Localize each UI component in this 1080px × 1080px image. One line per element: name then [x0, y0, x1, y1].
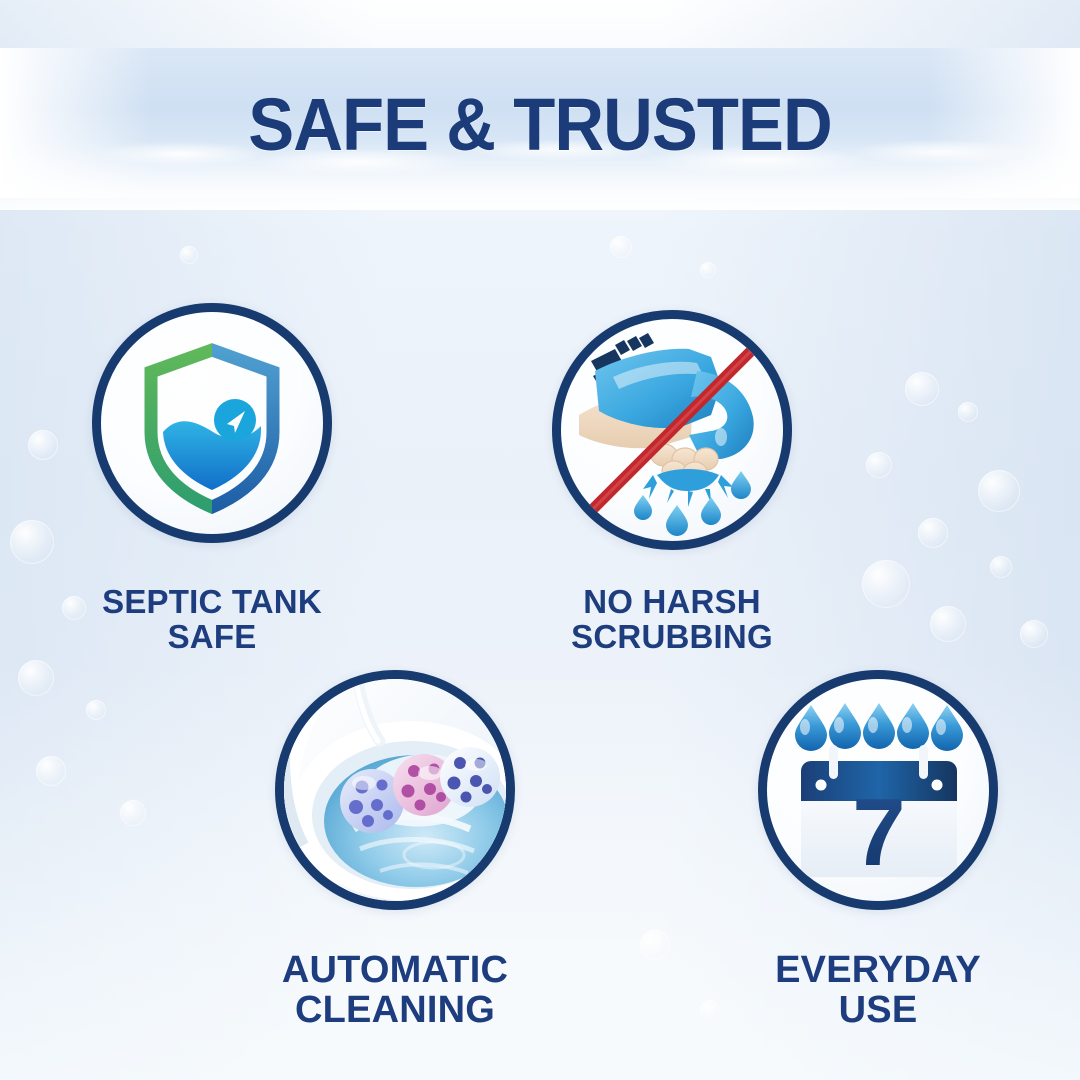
label-line-1: EVERYDAY	[718, 950, 1038, 990]
toilet-bowl-gel-discs-icon	[284, 679, 506, 901]
label-line-2: SCRUBBING	[512, 620, 832, 655]
feature-badge-automatic-cleaning[interactable]	[275, 670, 515, 910]
badge-inner	[101, 312, 323, 534]
feature-label-automatic-cleaning: AUTOMATIC CLEANING	[235, 950, 555, 1031]
badge-inner	[284, 679, 506, 901]
label-line-1: AUTOMATIC	[235, 950, 555, 990]
calendar-7-droplets-icon: 7	[767, 679, 989, 901]
label-line-2: SAFE	[52, 620, 372, 655]
label-line-1: SEPTIC TANK	[52, 585, 372, 620]
shield-water-icon	[101, 312, 323, 534]
hand-brush-prohibited-icon	[561, 319, 783, 541]
calendar-day-number: 7	[852, 779, 905, 886]
feature-badge-septic-tank-safe[interactable]	[92, 303, 332, 543]
label-line-2: USE	[718, 990, 1038, 1030]
feature-label-septic-tank-safe: SEPTIC TANK SAFE	[52, 585, 372, 655]
feature-badge-no-harsh-scrubbing[interactable]	[552, 310, 792, 550]
infographic-canvas: SAFE & TRUSTED	[0, 0, 1080, 1080]
feature-label-everyday-use: EVERYDAY USE	[718, 950, 1038, 1031]
label-line-2: CLEANING	[235, 990, 555, 1030]
label-line-1: NO HARSH	[512, 585, 832, 620]
feature-label-no-harsh-scrubbing: NO HARSH SCRUBBING	[512, 585, 832, 655]
badge-inner	[561, 319, 783, 541]
feature-badge-everyday-use[interactable]: 7	[758, 670, 998, 910]
page-title: SAFE & TRUSTED	[38, 82, 1042, 167]
badge-inner: 7	[767, 679, 989, 901]
